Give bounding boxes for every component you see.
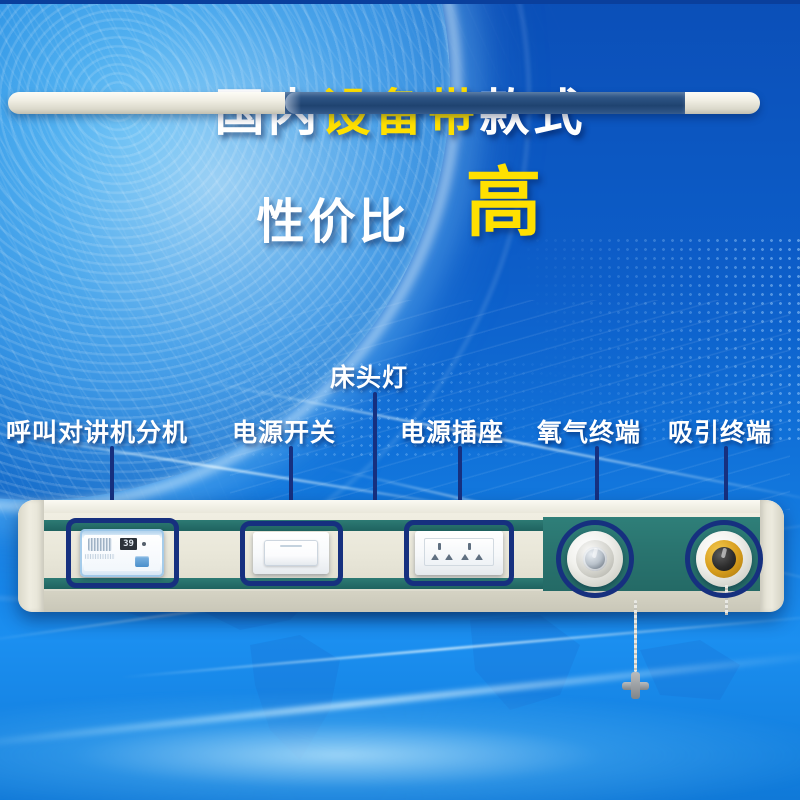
callout-box-intercom xyxy=(66,518,179,588)
top-edge-bar xyxy=(0,0,800,4)
callout-box-power-socket xyxy=(404,520,514,586)
bottom-glow xyxy=(0,690,800,800)
subheadline: 性价比 高 xyxy=(0,168,800,252)
unit-end-cap-left xyxy=(18,500,44,612)
subheadline-right: 高 xyxy=(466,168,544,240)
callout-label-power-switch: 电源开关 xyxy=(232,413,336,449)
unit-end-cap-right xyxy=(760,500,784,612)
cord-handle-bar-vertical xyxy=(631,672,640,699)
unit-bottom-rail xyxy=(8,92,760,114)
rail-blue-section xyxy=(285,92,685,114)
subheadline-left: 性价比 xyxy=(256,182,409,252)
callout-circle-suction xyxy=(685,520,763,598)
pull-cord-handle[interactable] xyxy=(622,672,649,699)
pull-cord[interactable] xyxy=(634,600,637,672)
callout-label-power-socket: 电源插座 xyxy=(400,413,504,449)
callout-label-bed-lamp: 床头灯 xyxy=(330,358,408,394)
callout-box-power-switch xyxy=(240,521,343,586)
callout-label-intercom: 呼叫对讲机分机 xyxy=(6,413,188,449)
callout-label-suction: 吸引终端 xyxy=(668,413,772,449)
callout-circle-oxygen xyxy=(556,520,634,598)
unit-top-edge xyxy=(18,500,784,513)
promo-banner: 国内设备带款式 性价比 高 呼叫对讲机分机 电源开关 床头灯 电源插座 氧气终端… xyxy=(0,0,800,800)
callout-label-oxygen: 氧气终端 xyxy=(537,413,641,449)
